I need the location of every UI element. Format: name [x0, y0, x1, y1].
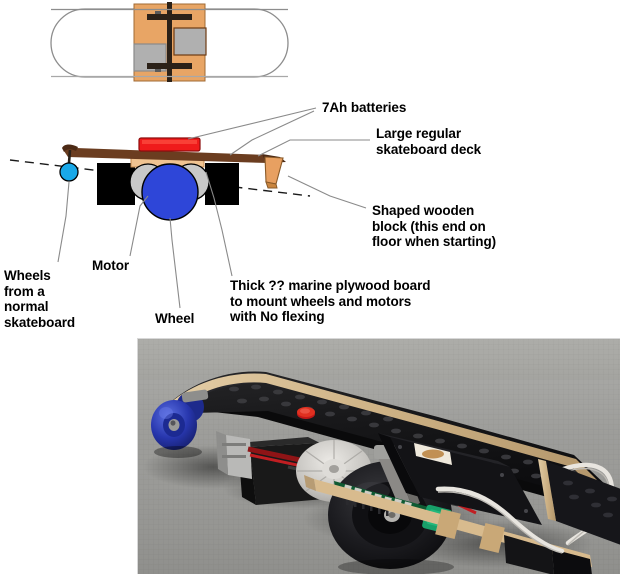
leader-wheel: [170, 218, 180, 308]
label-motor: Motor: [92, 258, 129, 274]
side-view-motor-left: [97, 163, 135, 205]
side-view-wooden-block: [265, 157, 283, 184]
side-view-diagram: [10, 138, 310, 220]
top-view-truck-front: [147, 14, 192, 20]
label-wheel: Wheel: [155, 311, 194, 327]
label-7ah-batteries: 7Ah batteries: [322, 100, 406, 116]
leader-deck: [258, 140, 370, 156]
label-skateboard-deck: Large regular skateboard deck: [376, 126, 481, 157]
side-view-drive-wheel: [142, 164, 198, 220]
side-view-small-wheel: [60, 163, 78, 181]
leader-block: [288, 176, 366, 208]
top-view-diagram: [51, 2, 288, 82]
leader-batteries-a: [188, 108, 316, 139]
side-view-truck-nose: [69, 150, 70, 163]
side-view-battery-highlight: [142, 140, 197, 144]
top-view-truck-rear-cap: [155, 69, 161, 72]
label-wooden-block: Shaped wooden block (this end on floor w…: [372, 203, 496, 250]
diagram-page: 7Ah batteries Large regular skateboard d…: [0, 0, 620, 574]
label-wheels-from-normal-skateboard: Wheels from a normal skateboard: [4, 268, 75, 330]
side-view-battery: [139, 138, 200, 151]
leader-wheels-normal: [58, 182, 69, 262]
top-view-truck-rear: [147, 63, 192, 69]
label-marine-plywood-board: Thick ?? marine plywood board to mount w…: [230, 278, 430, 325]
top-view-truck-front-cap: [155, 11, 161, 14]
top-view-battery-right: [174, 28, 206, 55]
